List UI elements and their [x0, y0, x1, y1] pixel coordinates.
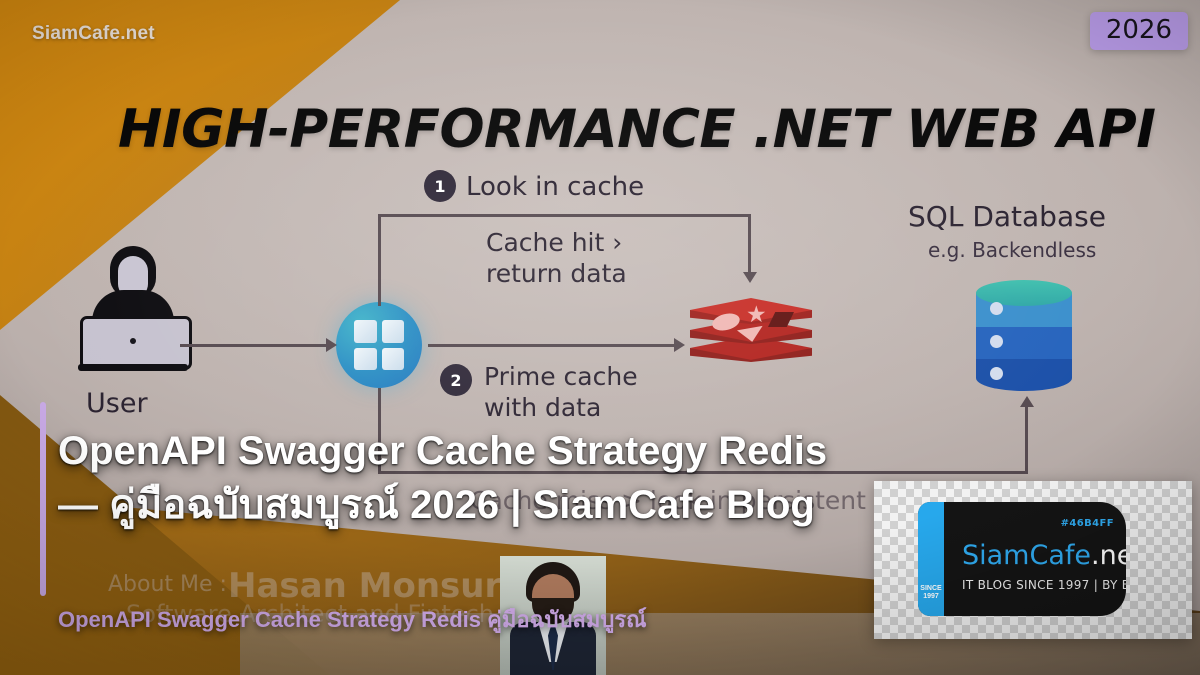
- screenshot-stage: HIGH-PERFORMANCE .NET WEB API User: [0, 0, 1200, 675]
- vignette-overlay: [0, 0, 1200, 675]
